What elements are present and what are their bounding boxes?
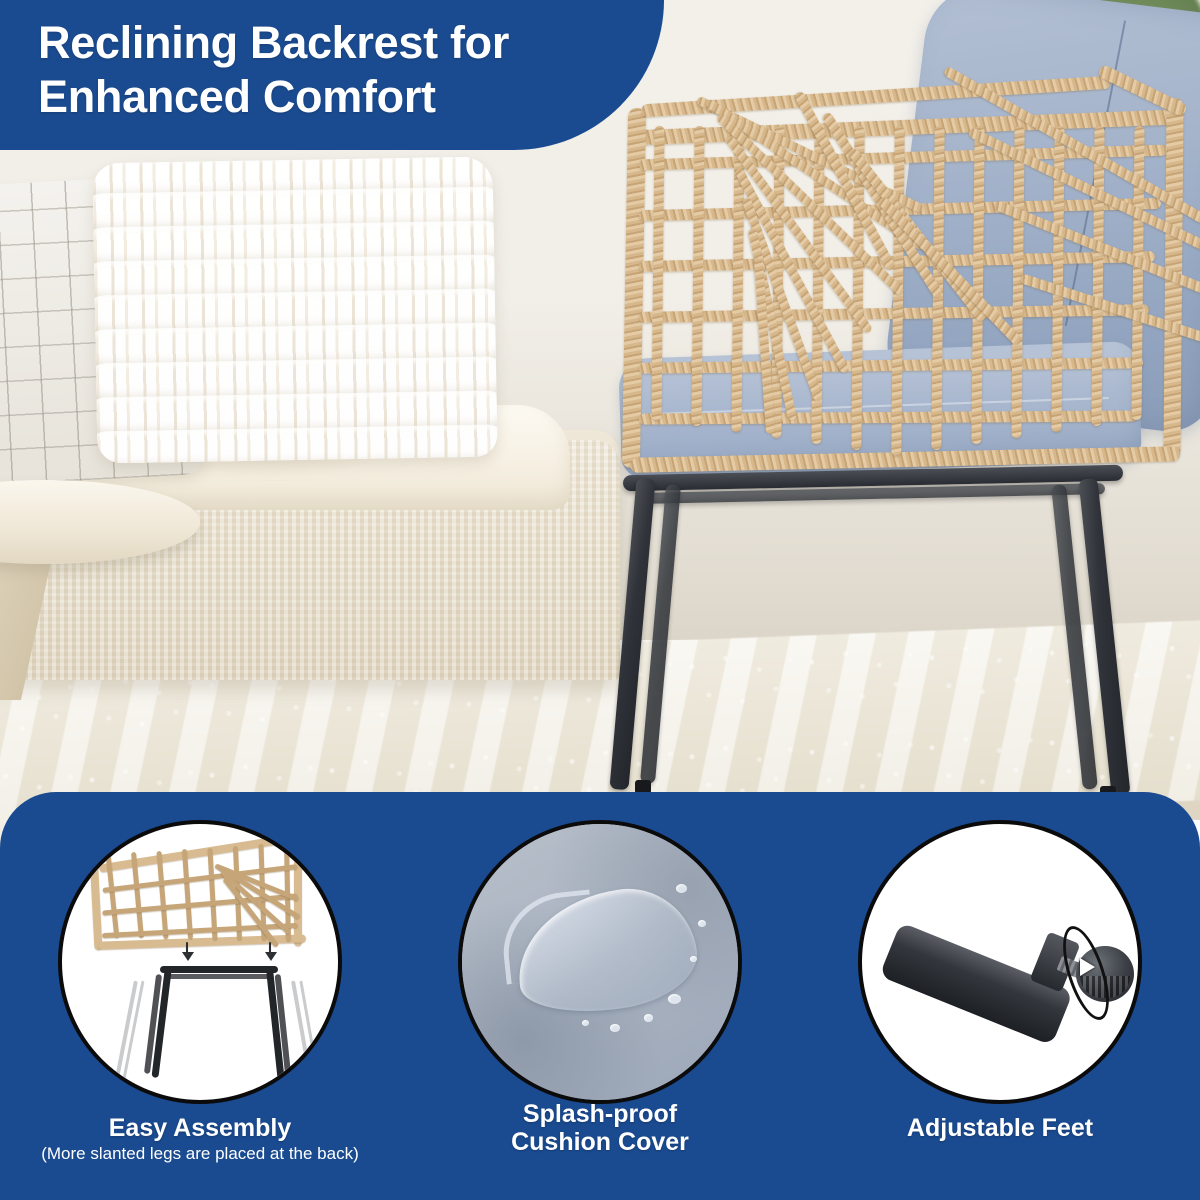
water-droplet bbox=[644, 1014, 653, 1022]
rattan-strand bbox=[971, 126, 984, 444]
rattan-strand bbox=[639, 410, 1137, 424]
frame-weave bbox=[156, 851, 168, 939]
rattan-strand bbox=[1131, 126, 1144, 420]
assembly-arrow-stem bbox=[269, 942, 271, 954]
water-droplet bbox=[582, 1020, 589, 1026]
feature-adjustable-feet: Adjustable Feet bbox=[800, 792, 1200, 1200]
chunky-knit-pillow bbox=[92, 157, 497, 464]
frame-weave bbox=[207, 848, 217, 940]
assembly-arrow-stem bbox=[186, 942, 188, 954]
adjustable-foot-icon bbox=[858, 820, 1142, 1104]
header-banner: Reclining Backrest for Enhanced Comfort bbox=[0, 0, 664, 150]
assembly-arrow-icon bbox=[182, 952, 194, 961]
knit-texture bbox=[92, 157, 497, 464]
page-title: Reclining Backrest for Enhanced Comfort bbox=[38, 16, 638, 124]
leg-rail-back bbox=[166, 974, 272, 979]
rotation-arrowhead-icon bbox=[1080, 958, 1095, 976]
rattan-strand bbox=[1091, 126, 1104, 426]
chair-frame-assembly-icon bbox=[58, 820, 342, 1104]
water-droplet bbox=[676, 884, 687, 893]
rattan-strand bbox=[734, 167, 850, 374]
water-droplet bbox=[690, 956, 697, 962]
assembly-arrow-icon bbox=[265, 952, 277, 961]
feature-easy-assembly: Easy Assembly (More slanted legs are pla… bbox=[0, 792, 400, 1200]
feature-title: Splash-proof Cushion Cover bbox=[400, 1100, 800, 1156]
rattan-woven-frame bbox=[625, 80, 1185, 500]
water-droplet bbox=[668, 994, 681, 1004]
rattan-strand bbox=[691, 126, 704, 426]
rattan-strand bbox=[651, 126, 664, 420]
feature-subtitle: (More slanted legs are placed at the bac… bbox=[0, 1144, 400, 1164]
rattan-strand bbox=[639, 357, 1143, 373]
feature-title: Easy Assembly bbox=[0, 1114, 400, 1142]
rattan-chair bbox=[575, 80, 1200, 820]
water-droplet bbox=[698, 920, 706, 927]
feature-title: Adjustable Feet bbox=[800, 1114, 1200, 1142]
frame-weave bbox=[182, 849, 193, 939]
leg-rail bbox=[160, 966, 278, 973]
water-droplet bbox=[610, 1024, 620, 1032]
feature-panel: Easy Assembly (More slanted legs are pla… bbox=[0, 792, 1200, 1200]
water-droplet-splash-icon bbox=[458, 820, 742, 1104]
feature-splash-proof: Splash-proof Cushion Cover bbox=[400, 792, 800, 1200]
